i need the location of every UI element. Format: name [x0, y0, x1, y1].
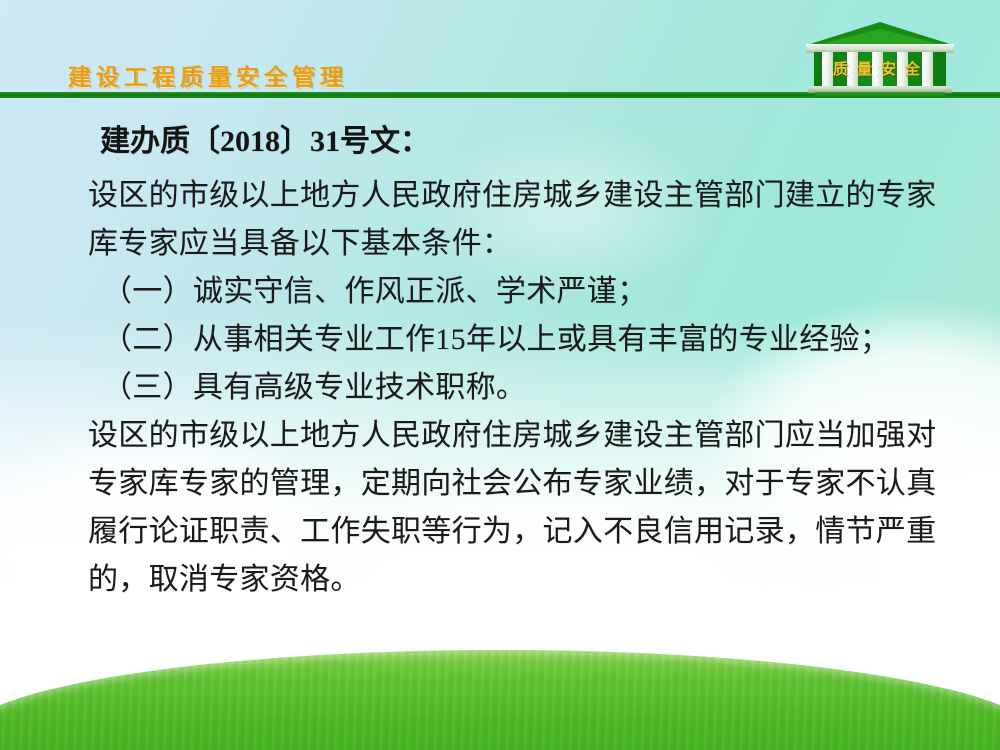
quality-safety-temple-logo: 质量安全 — [806, 22, 954, 98]
paragraph-item-1: （一）诚实守信、作风正派、学术严谨； — [88, 268, 940, 316]
document-reference-title: 建办质〔2018〕31号文： — [100, 118, 1000, 166]
temple-base-lower — [815, 92, 945, 98]
paragraph-item-3: （三）具有高级专业技术职称。 — [88, 364, 940, 412]
paragraph-closing: 设区的市级以上地方人民政府住房城乡建设主管部门应当加强对专家库专家的管理，定期向… — [88, 412, 940, 604]
paragraph-item-2: （二）从事相关专业工作15年以上或具有丰富的专业经验； — [88, 316, 940, 364]
slide-content: 建办质〔2018〕31号文： 设区的市级以上地方人民政府住房城乡建设主管部门建立… — [0, 118, 1000, 604]
paragraph-intro: 设区的市级以上地方人民政府住房城乡建设主管部门建立的专家库专家应当具备以下基本条… — [88, 172, 940, 268]
logo-label: 质量安全 — [818, 58, 944, 79]
header-title: 建设工程质量安全管理 — [68, 58, 348, 92]
slide-canvas: 建设工程质量安全管理 质量安全 建办质〔2018〕31号文： 设区的市级以上地方… — [0, 0, 1000, 750]
temple-roof-inner-icon — [820, 29, 940, 44]
slide-header: 建设工程质量安全管理 质量安全 — [0, 0, 1000, 100]
